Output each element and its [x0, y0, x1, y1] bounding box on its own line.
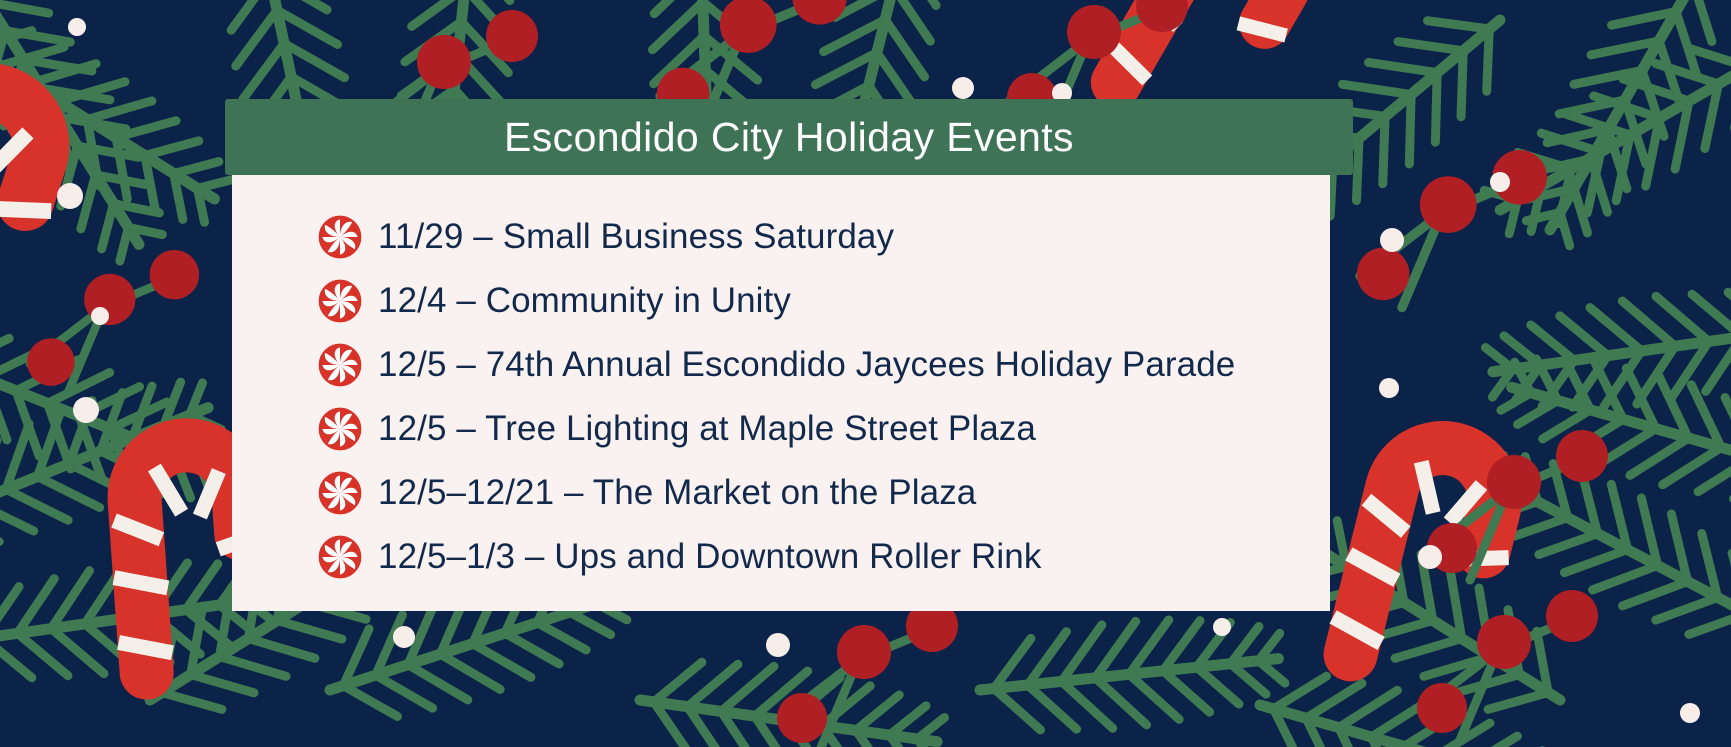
peppermint-candy-icon: [318, 407, 362, 451]
event-label: 12/5 – Tree Lighting at Maple Street Pla…: [378, 409, 1036, 449]
peppermint-candy-icon: [318, 279, 362, 323]
events-panel: 11/29 – Small Business Saturday: [232, 175, 1330, 611]
event-label: 11/29 – Small Business Saturday: [378, 217, 894, 257]
list-item: 12/5–12/21 – The Market on the Plaza: [318, 461, 1330, 525]
list-item: 11/29 – Small Business Saturday: [318, 205, 1330, 269]
event-label: 12/5 – 74th Annual Escondido Jaycees Hol…: [378, 345, 1235, 385]
event-label: 12/4 – Community in Unity: [378, 281, 791, 321]
event-label: 12/5–12/21 – The Market on the Plaza: [378, 473, 976, 513]
holiday-events-poster: Escondido City Holiday Events: [0, 0, 1731, 747]
peppermint-candy-icon: [318, 215, 362, 259]
list-item: 12/5 – 74th Annual Escondido Jaycees Hol…: [318, 333, 1330, 397]
title-banner: Escondido City Holiday Events: [225, 99, 1353, 175]
list-item: 12/5 – Tree Lighting at Maple Street Pla…: [318, 397, 1330, 461]
events-list: 11/29 – Small Business Saturday: [232, 205, 1330, 589]
peppermint-candy-icon: [318, 471, 362, 515]
peppermint-candy-icon: [318, 535, 362, 579]
list-item: 12/5–1/3 – Ups and Downtown Roller Rink: [318, 525, 1330, 589]
peppermint-candy-icon: [318, 343, 362, 387]
event-label: 12/5–1/3 – Ups and Downtown Roller Rink: [378, 537, 1041, 577]
page-title: Escondido City Holiday Events: [504, 114, 1074, 161]
list-item: 12/4 – Community in Unity: [318, 269, 1330, 333]
